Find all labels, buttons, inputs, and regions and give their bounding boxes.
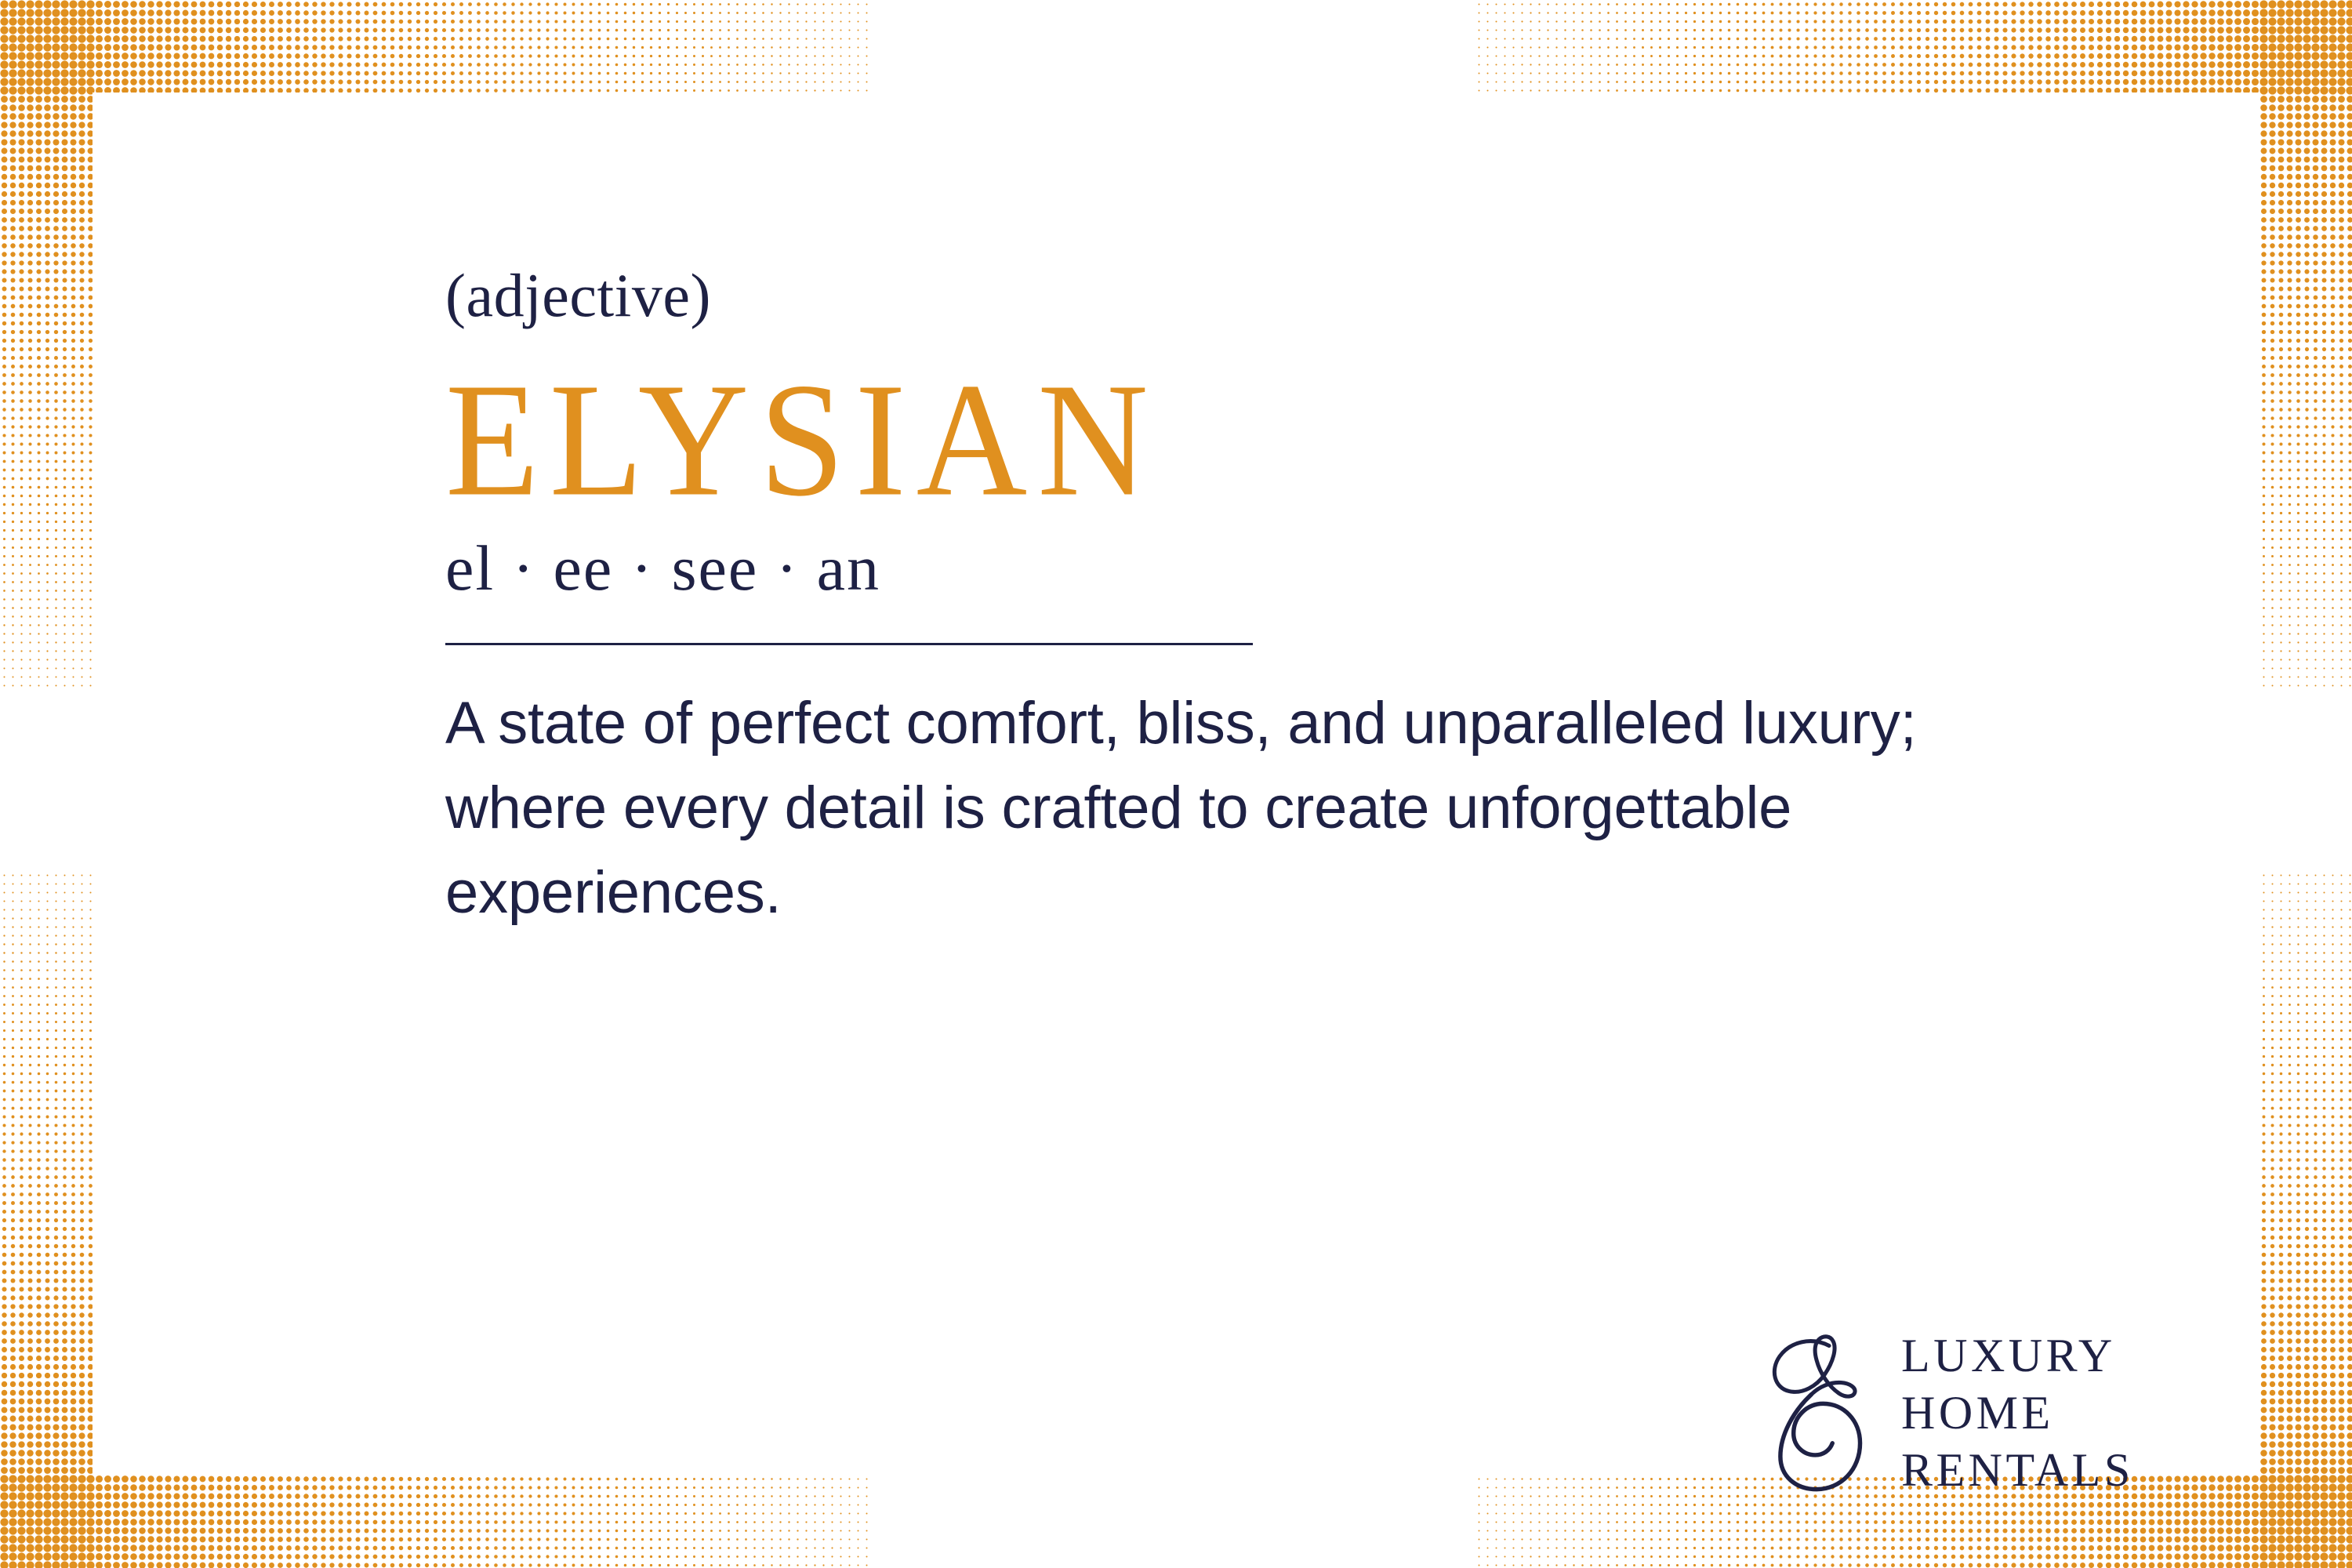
- wordmark-line-2: HOME: [1901, 1385, 2134, 1442]
- content-card: (adjective) ELYSIAN el · ee · see · an A…: [93, 93, 2259, 1475]
- definition-text: A state of perfect comfort, bliss, and u…: [445, 681, 2076, 935]
- headword-title: ELYSIAN: [445, 362, 2170, 518]
- part-of-speech-label: (adjective): [445, 265, 2170, 326]
- wordmark-line-3: RENTALS: [1901, 1442, 2134, 1499]
- divider-rule: [445, 643, 1253, 645]
- poster-canvas: (adjective) ELYSIAN el · ee · see · an A…: [0, 0, 2352, 1568]
- script-e-monogram-icon: [1743, 1328, 1875, 1499]
- brand-wordmark: LUXURY HOME RENTALS: [1901, 1327, 2134, 1500]
- pronunciation-text: el · ee · see · an: [445, 536, 2170, 601]
- wordmark-line-1: LUXURY: [1901, 1327, 2134, 1385]
- brand-logo: LUXURY HOME RENTALS: [1743, 1327, 2134, 1500]
- dictionary-entry: (adjective) ELYSIAN el · ee · see · an A…: [445, 265, 2170, 935]
